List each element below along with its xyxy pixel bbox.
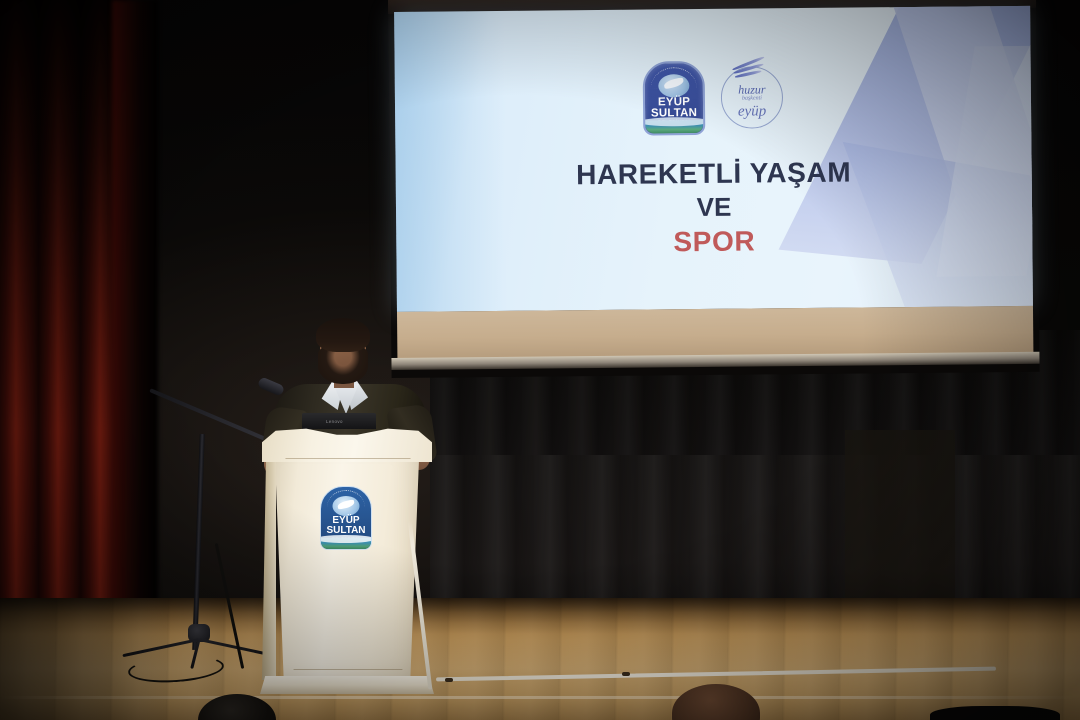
slide-content: EYÜP SULTAN BELEDİYESİ huzur başkenti ey… [394,6,1033,312]
auditorium-photo: EYÜP SULTAN BELEDİYESİ huzur başkenti ey… [0,0,1080,720]
slide-title-line2: VE [697,191,732,224]
eyup-sultan-belediyesi-logo: EYÜP SULTAN BELEDİYESİ [643,61,706,136]
projected-slide: EYÜP SULTAN BELEDİYESİ huzur başkenti ey… [394,6,1033,312]
stage-floor-left-shading [0,598,170,720]
slide-logo-row: EYÜP SULTAN BELEDİYESİ huzur başkenti ey… [643,60,784,135]
stage-floor-seam [0,696,1080,699]
podium-base [260,676,434,694]
podium-top-panel [262,428,432,462]
eyup-sultan-belediyesi-emblem: EYÜP SULTAN BELEDİYESİ [320,486,372,550]
red-stage-curtain [0,0,126,698]
slide-title-line1: HAREKETLİ YAŞAM [576,156,851,193]
slide-title-line3: SPOR [673,223,755,260]
huzur-line2: başkenti [742,95,762,103]
presenter-hair [316,318,370,352]
audience-shoulder [930,706,1060,720]
pull-down-projection-screen: EYÜP SULTAN BELEDİYESİ huzur başkenti ey… [388,0,1040,378]
curtain-shadow-edge [112,0,158,700]
speaker-podium: EYÜP SULTAN BELEDİYESİ [258,428,436,696]
podium-left-edge [262,450,276,680]
podium-emblem-wave [321,538,371,549]
cable-clip [445,678,453,682]
huzur-line3: eyüp [738,103,766,120]
laptop-brand-badge: Lenovo [326,419,343,424]
emblem-wave [645,120,703,134]
cable-clip [622,672,630,676]
huzur-baskenti-eyup-logo: huzur başkenti eyüp [721,66,784,129]
